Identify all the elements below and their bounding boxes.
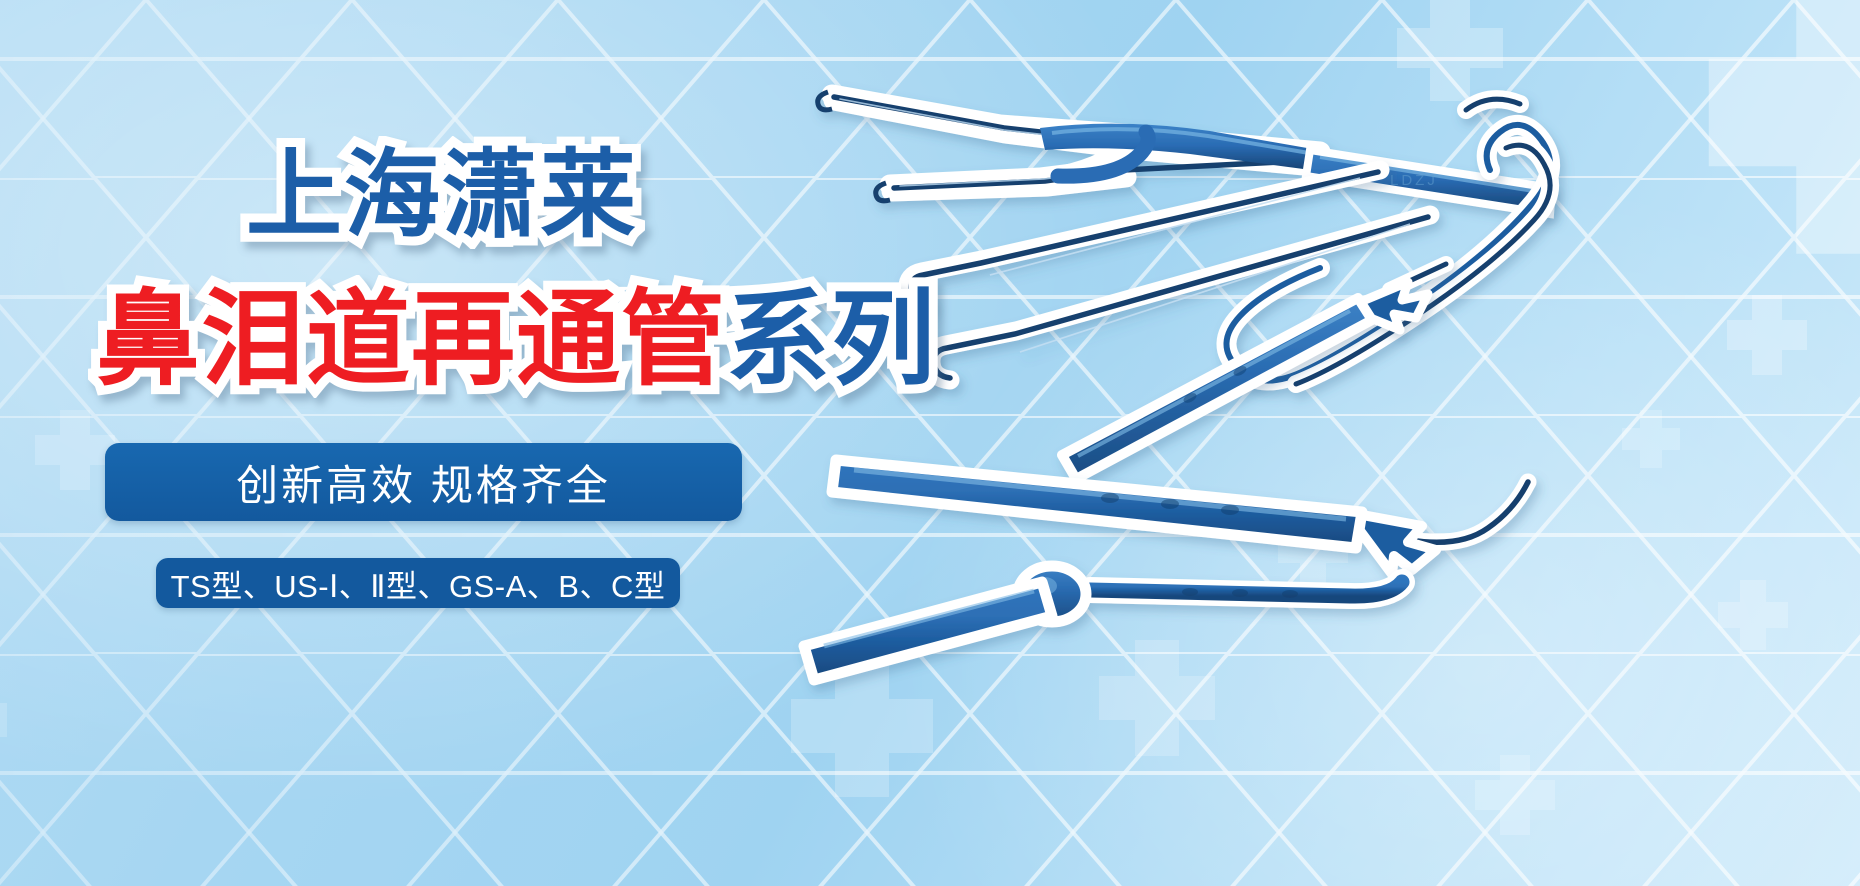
lacrimal-forceps-icon: LDZJ: [818, 92, 1552, 214]
lacrimal-tube-bulb-icon: [804, 566, 1402, 680]
model-list-pill: TS型、US-Ⅰ、Ⅱ型、GS-A、B、C型: [156, 558, 680, 608]
product-title: 鼻泪道再通管系列: [96, 288, 936, 392]
product-artwork: LDZJ: [790, 0, 1860, 886]
slogan-text: 创新高效 规格齐全: [236, 452, 611, 513]
product-banner: LDZJ: [0, 0, 1860, 886]
product-title-suffix: 系列: [726, 282, 936, 398]
instrument-illustrations: LDZJ: [790, 0, 1860, 886]
product-title-primary: 鼻泪道再通管: [96, 282, 726, 398]
text-column: 上海潇莱 鼻泪道再通管系列 创新高效 规格齐全 TS型、US-Ⅰ、Ⅱ型、GS-A…: [0, 0, 820, 886]
slogan-bar: 创新高效 规格齐全: [105, 443, 742, 521]
model-list-text: TS型、US-Ⅰ、Ⅱ型、GS-A、B、C型: [171, 561, 666, 606]
brand-name: 上海潇莱: [246, 148, 638, 244]
lacrimal-tube-arrow-large-icon: [832, 460, 1528, 574]
